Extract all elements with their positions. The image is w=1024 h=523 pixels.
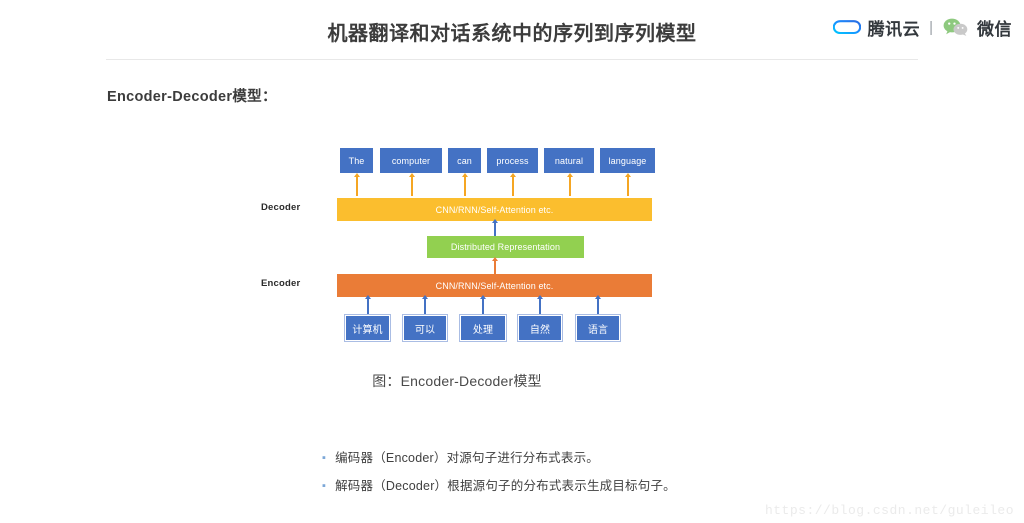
- bullet-marker-icon: ▪: [322, 478, 326, 494]
- arrow-input-to-encoder: [482, 298, 484, 315]
- output-token: can: [448, 148, 481, 173]
- arrow-representation-to-decoder: [494, 222, 496, 236]
- figure-caption-text: 图：Encoder-Decoder模型: [372, 373, 542, 389]
- brand-logos: 腾讯云 | 微信: [833, 13, 1012, 41]
- brand-name-tencent-cloud: 腾讯云: [868, 15, 921, 40]
- slide-header: 机器翻译和对话系统中的序列到序列模型 腾讯云 |: [0, 0, 1024, 57]
- output-token: The: [340, 148, 373, 173]
- output-token: language: [600, 148, 655, 173]
- slide-page: 机器翻译和对话系统中的序列到序列模型 腾讯云 |: [0, 0, 1024, 523]
- arrow-input-to-encoder: [597, 298, 599, 315]
- output-token: natural: [544, 148, 594, 173]
- diagram-label-decoder: Decoder: [261, 202, 300, 213]
- wechat-icon: [942, 17, 970, 37]
- bullet-text: 编码器（Encoder）对源句子进行分布式表示。: [335, 450, 599, 466]
- arrow-up-to-output-token: [627, 176, 629, 196]
- input-token: 可以: [403, 315, 447, 341]
- header-divider: [106, 59, 918, 60]
- output-token: process: [487, 148, 538, 173]
- figure-caption: 图：Encoder-Decoder模型: [0, 371, 1024, 391]
- arrow-encoder-to-representation: [494, 260, 496, 274]
- list-item: ▪ 解码器（Decoder）根据源句子的分布式表示生成目标句子。: [322, 478, 882, 494]
- arrow-up-to-output-token: [569, 176, 571, 196]
- watermark: https://blog.csdn.net/guleileo: [765, 503, 1014, 518]
- arrow-input-to-encoder: [539, 298, 541, 315]
- arrow-up-to-output-token: [512, 176, 514, 196]
- brand-separator: |: [929, 19, 933, 36]
- encoder-bar: CNN/RNN/Self-Attention etc.: [337, 274, 652, 297]
- bullet-list: ▪ 编码器（Encoder）对源句子进行分布式表示。 ▪ 解码器（Decoder…: [322, 450, 882, 506]
- distributed-representation-box: Distributed Representation: [427, 236, 584, 258]
- bullet-text: 解码器（Decoder）根据源句子的分布式表示生成目标句子。: [335, 478, 676, 494]
- list-item: ▪ 编码器（Encoder）对源句子进行分布式表示。: [322, 450, 882, 466]
- arrow-input-to-encoder: [367, 298, 369, 315]
- encoder-decoder-diagram: Decoder Encoder The computer can process…: [272, 148, 652, 346]
- tencent-cloud-icon: [833, 17, 861, 37]
- arrow-up-to-output-token: [356, 176, 358, 196]
- input-token: 自然: [518, 315, 562, 341]
- output-token: computer: [380, 148, 442, 173]
- arrow-input-to-encoder: [424, 298, 426, 315]
- section-heading: Encoder-Decoder模型：: [107, 85, 277, 106]
- arrow-up-to-output-token: [464, 176, 466, 196]
- brand-name-wechat: 微信: [977, 15, 1012, 40]
- bullet-marker-icon: ▪: [322, 450, 326, 466]
- input-token: 计算机: [345, 315, 390, 341]
- input-token: 语言: [576, 315, 620, 341]
- diagram-label-encoder: Encoder: [261, 278, 300, 289]
- arrow-up-to-output-token: [411, 176, 413, 196]
- input-token: 处理: [460, 315, 506, 341]
